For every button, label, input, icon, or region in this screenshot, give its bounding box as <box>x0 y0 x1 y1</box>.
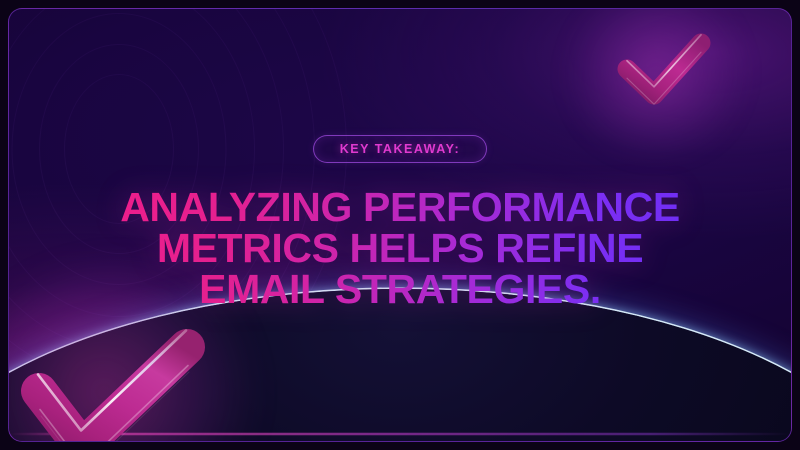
magenta-accent-line <box>9 433 791 435</box>
headline-line-1: ANALYZING PERFORMANCE <box>120 187 680 228</box>
key-takeaway-badge-label: KEY TAKEAWAY: <box>340 142 460 156</box>
slide-content: KEY TAKEAWAY: ANALYZING PERFORMANCE METR… <box>9 9 791 310</box>
headline: ANALYZING PERFORMANCE METRICS HELPS REFI… <box>120 187 680 310</box>
slide-frame: KEY TAKEAWAY: ANALYZING PERFORMANCE METR… <box>8 8 792 442</box>
headline-line-2: METRICS HELPS REFINE <box>120 228 680 269</box>
slide-canvas: KEY TAKEAWAY: ANALYZING PERFORMANCE METR… <box>0 0 800 450</box>
key-takeaway-badge: KEY TAKEAWAY: <box>313 135 487 163</box>
checkmark-icon-bottom-left <box>19 325 209 442</box>
headline-line-3: EMAIL STRATEGIES. <box>120 269 680 310</box>
